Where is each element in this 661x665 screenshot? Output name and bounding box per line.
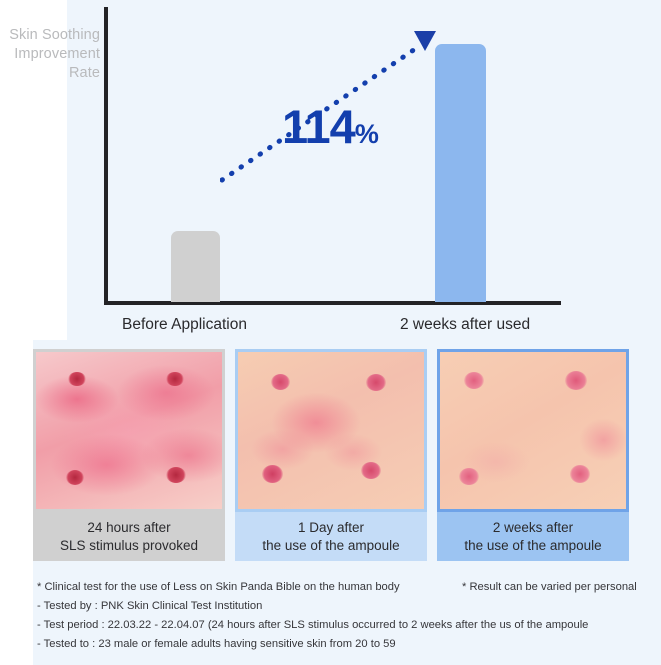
bar-chart: Skin Soothing Improvement Rate 114% Befo… — [0, 0, 661, 340]
photo-card-1-day: 1 Day after the use of the ampoule — [235, 349, 427, 561]
photo-comparison-row: 24 hours after SLS stimulus provoked 1 D… — [0, 349, 661, 571]
caption-line-1: 24 hours after — [87, 519, 170, 537]
skin-photo-24-hours — [33, 349, 225, 512]
caption-line-1: 1 Day after — [298, 519, 364, 537]
footnote-disclaimer: * Result can be varied per personal — [462, 581, 637, 593]
lesion-spot — [166, 467, 186, 483]
caption-line-1: 2 weeks after — [493, 519, 573, 537]
footnote-tested-by: - Tested by : PNK Skin Clinical Test Ins… — [37, 600, 262, 612]
skin-photo-2-weeks — [437, 349, 629, 512]
footnote-clinical-test: * Clinical test for the use of Less on S… — [37, 581, 400, 593]
lesion-spot — [459, 468, 479, 485]
photo-caption-1-day: 1 Day after the use of the ampoule — [235, 512, 427, 561]
photo-card-2-weeks: 2 weeks after the use of the ampoule — [437, 349, 629, 561]
improvement-percentage: 114% — [282, 103, 379, 150]
skin-photo-1-day — [235, 349, 427, 512]
bar-before-application — [171, 231, 220, 302]
x-tick-2-weeks-after-used: 2 weeks after used — [400, 316, 530, 334]
footnote-tested-to: - Tested to : 23 male or female adults h… — [37, 638, 396, 650]
percentage-symbol: % — [355, 119, 379, 149]
caption-line-2: the use of the ampoule — [464, 537, 601, 555]
skin-texture — [238, 352, 424, 509]
percentage-number: 114 — [282, 100, 355, 153]
bar-2-weeks-after-used — [435, 44, 486, 302]
y-axis-label: Skin Soothing Improvement Rate — [4, 26, 100, 83]
footnotes: * Clinical test for the use of Less on S… — [0, 578, 661, 665]
caption-line-2: SLS stimulus provoked — [60, 537, 198, 555]
footnote-test-period: - Test period : 22.03.22 - 22.04.07 (24 … — [37, 619, 588, 631]
infographic-page: Skin Soothing Improvement Rate 114% Befo… — [0, 0, 661, 665]
lesion-spot — [66, 470, 84, 485]
lesion-spot — [565, 371, 587, 390]
skin-texture — [36, 352, 222, 509]
photo-caption-2-weeks: 2 weeks after the use of the ampoule — [437, 512, 629, 561]
photo-card-24-hours: 24 hours after SLS stimulus provoked — [33, 349, 225, 561]
caption-line-2: the use of the ampoule — [262, 537, 399, 555]
photo-caption-24-hours: 24 hours after SLS stimulus provoked — [33, 512, 225, 561]
y-axis-line — [104, 7, 108, 305]
x-tick-before-application: Before Application — [122, 316, 247, 334]
lesion-spot — [361, 462, 381, 479]
